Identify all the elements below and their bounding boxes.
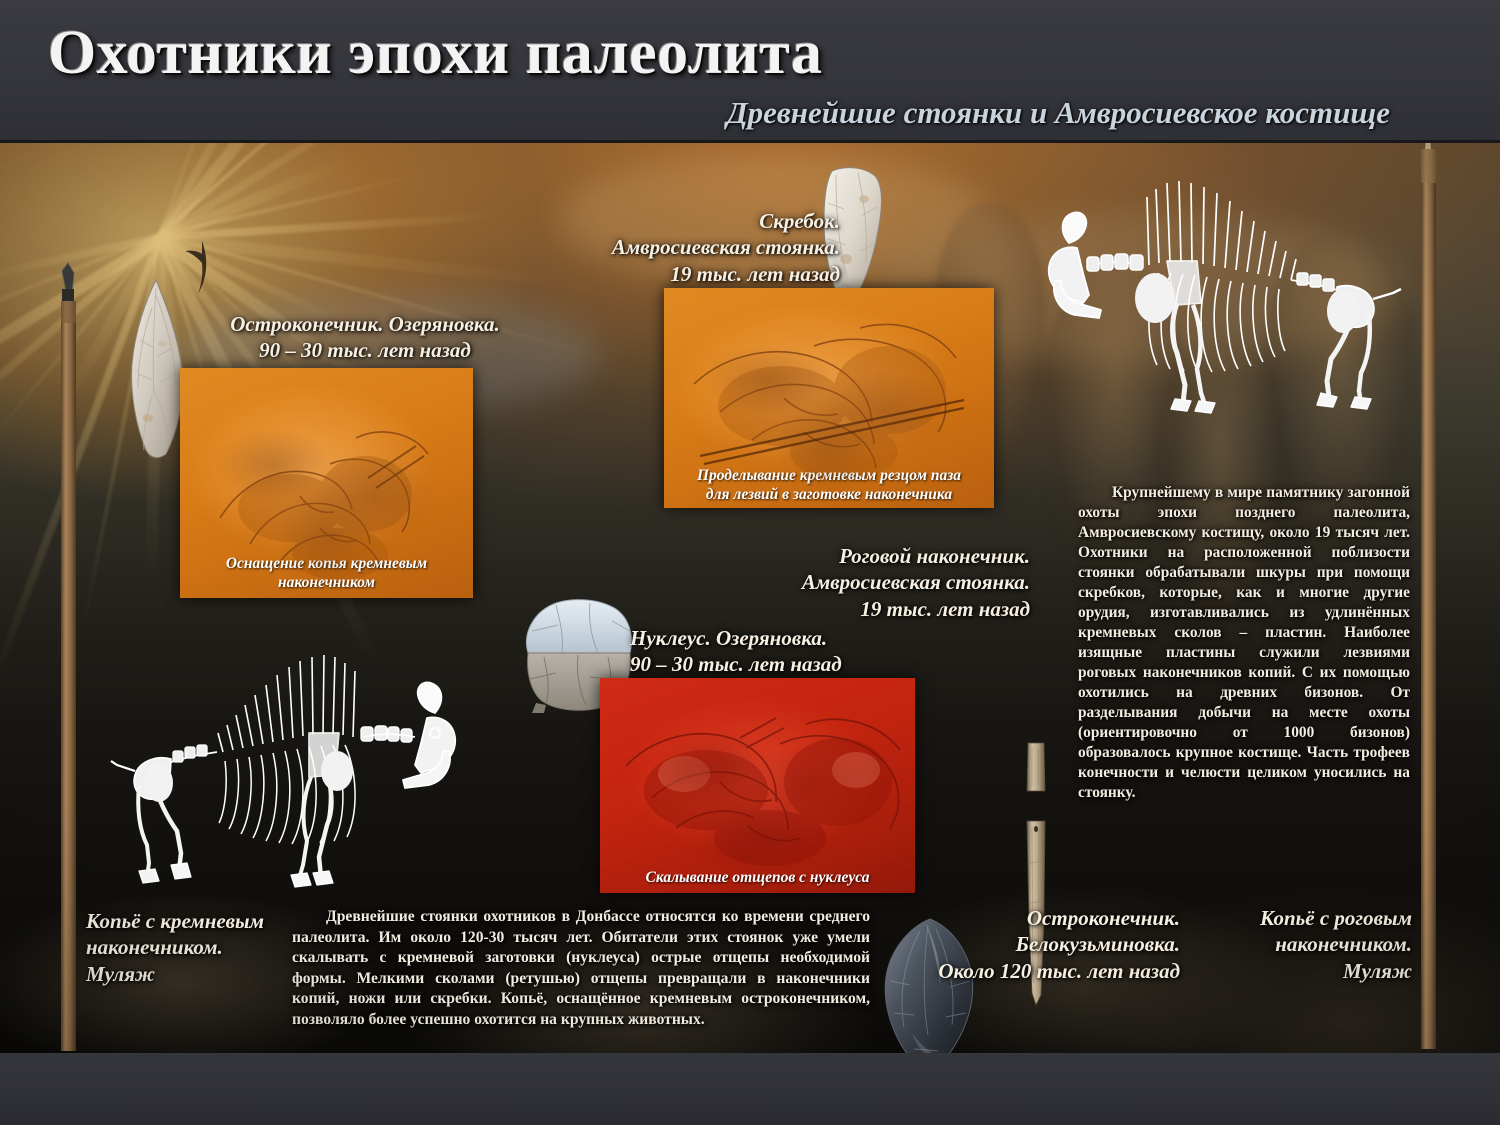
panel-flaking-photo: Скалывание отщепов с нуклеуса (600, 678, 915, 893)
page-title: Охотники эпохи палеолита (48, 18, 823, 89)
panel-grooving-caption: Проделывание кремневым резцом паза для л… (664, 467, 994, 504)
caption-point-ozeryanovka: Остроконечник. Озеряновка. 90 – 30 тыс. … (190, 311, 540, 364)
panel-hafting-photo: Оснащение копья кремневым наконечником (180, 368, 473, 598)
caption-nucleus-ozeryanovka: Нуклеус. Озеряновка. 90 – 30 тыс. лет на… (630, 625, 920, 678)
caption-spear-antler: Копьё с роговым наконечником. Муляж (1190, 905, 1412, 984)
poster-canvas: Охотники эпохи палеолита Древнейшие стоя… (0, 0, 1500, 1125)
replica-spear-flint-tip (48, 263, 90, 1053)
scene-background: Оснащение копья кремневым наконечником (0, 143, 1500, 1053)
caption-scraper-amvrosievka: Скребок. Амвросиевская стоянка. 19 тыс. … (520, 208, 840, 287)
replica-spear-antler-tip (1408, 143, 1448, 1053)
right-paragraph-text: Крупнейшему в мире памятнику загонной ох… (1078, 483, 1410, 803)
hands-flaking-illustration (600, 678, 915, 893)
page-subtitle: Древнейшие стоянки и Амвросиевское кости… (727, 95, 1391, 131)
antler-spear-point (1016, 743, 1058, 1043)
bison-skeleton-top (1025, 153, 1425, 408)
panel-grooving-photo: Проделывание кремневым резцом паза для л… (664, 288, 994, 508)
caption-point-belokuzminovka: Остроконечник. Белокузьминовка. Около 12… (890, 905, 1180, 984)
bottom-paragraph-text: Древнейшие стоянки охотников в Донбассе … (292, 907, 870, 1030)
poster-header: Охотники эпохи палеолита Древнейшие стоя… (0, 0, 1500, 143)
panel-hafting-caption: Оснащение копья кремневым наконечником (180, 555, 473, 592)
poster-footer (0, 1053, 1500, 1125)
bison-skeleton-bottom (105, 633, 480, 908)
bottom-paragraph: Древнейшие стоянки охотников в Донбассе … (292, 907, 870, 1030)
caption-antler-point: Роговой наконечник. Амвросиевская стоянк… (740, 543, 1030, 622)
right-paragraph: Крупнейшему в мире памятнику загонной ох… (1078, 483, 1410, 803)
panel-flaking-caption: Скалывание отщепов с нуклеуса (600, 869, 915, 887)
